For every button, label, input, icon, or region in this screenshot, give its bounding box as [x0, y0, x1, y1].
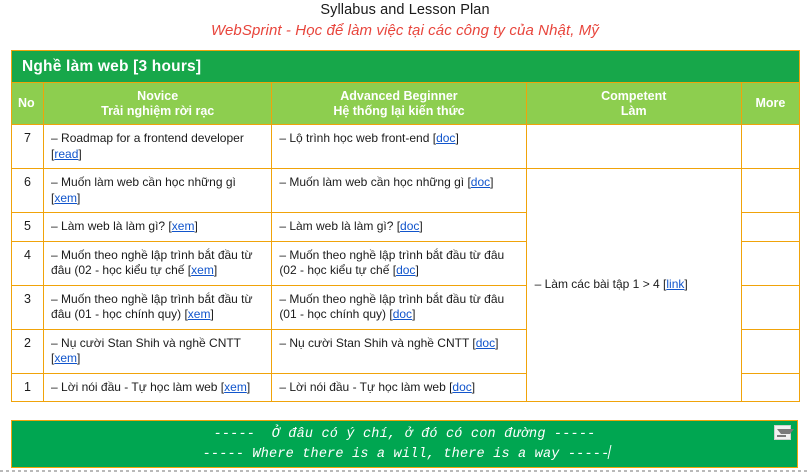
- col-header-novice: Novice Trải nghiệm rời rạc: [44, 83, 272, 125]
- more-cell: [741, 169, 799, 213]
- competent-tail: ]: [684, 277, 687, 291]
- row-number: 7: [12, 125, 44, 169]
- advanced-link[interactable]: doc: [476, 336, 495, 350]
- advanced-tail: ]: [472, 380, 475, 394]
- novice-tail: ]: [210, 307, 213, 321]
- table-row: 7 – Roadmap for a frontend developer [re…: [12, 125, 800, 169]
- advanced-tail: ]: [490, 175, 493, 189]
- competent-merged-cell: – Làm các bài tập 1 > 4 [link]: [526, 169, 741, 402]
- row-number: 6: [12, 169, 44, 213]
- novice-text: – Làm web là làm gì? [: [51, 219, 172, 233]
- novice-tail: ]: [247, 380, 250, 394]
- advanced-tail: ]: [455, 131, 458, 145]
- advanced-text: – Muốn làm web cần học những gì [: [279, 175, 470, 189]
- more-cell: [741, 285, 799, 329]
- advanced-link[interactable]: doc: [400, 219, 419, 233]
- page-bottom-edge: [0, 470, 810, 472]
- quote-line-vietnamese: ----- Ở đâu có ý chí, ở đó có con đường …: [12, 425, 797, 445]
- more-cell: [741, 373, 799, 402]
- advanced-tail: ]: [412, 307, 415, 321]
- col-header-novice-title: Novice: [44, 89, 271, 104]
- advanced-cell: – Lộ trình học web front-end [doc]: [272, 125, 526, 169]
- novice-link[interactable]: xem: [188, 307, 211, 321]
- col-header-competent-sub: Làm: [527, 104, 741, 119]
- more-cell: [741, 125, 799, 169]
- table-header-row: No Novice Trải nghiệm rời rạc Advanced B…: [12, 83, 800, 125]
- advanced-link[interactable]: doc: [396, 263, 415, 277]
- row-number: 1: [12, 373, 44, 402]
- competent-text: – Làm các bài tập 1 > 4 [: [535, 277, 667, 291]
- syllabus-table-wrap: Nghề làm web [3 hours] No Novice Trải ng…: [11, 50, 800, 402]
- banner-cell: Nghề làm web [3 hours]: [12, 51, 800, 83]
- novice-cell: – Muốn theo nghề lập trình bắt đầu từ đâ…: [44, 285, 272, 329]
- col-header-more: More: [741, 83, 799, 125]
- novice-link[interactable]: xem: [54, 191, 77, 205]
- row-number: 4: [12, 241, 44, 285]
- novice-link[interactable]: xem: [54, 351, 77, 365]
- page-header: Syllabus and Lesson Plan WebSprint - Học…: [0, 0, 810, 41]
- banner-title: Nghề làm web [3 hours]: [22, 58, 201, 75]
- more-cell: [741, 329, 799, 373]
- novice-text: – Lời nói đầu - Tự học làm web [: [51, 380, 224, 394]
- col-header-no-label: No: [18, 96, 43, 111]
- novice-cell: – Làm web là làm gì? [xem]: [44, 213, 272, 242]
- novice-cell: – Roadmap for a frontend developer [read…: [44, 125, 272, 169]
- advanced-tail: ]: [415, 263, 418, 277]
- competent-cell-row7: [526, 125, 741, 169]
- page-subtitle: WebSprint - Học để làm việc tại các công…: [0, 20, 810, 41]
- footer-quote-panel[interactable]: ----- Ở đâu có ý chí, ở đó có con đường …: [11, 420, 798, 468]
- advanced-text: – Làm web là làm gì? [: [279, 219, 400, 233]
- advanced-cell: – Muốn theo nghề lập trình bắt đầu từ đâ…: [272, 285, 526, 329]
- advanced-text: – Lời nói đầu - Tự học làm web [: [279, 380, 452, 394]
- novice-link[interactable]: xem: [224, 380, 247, 394]
- advanced-link[interactable]: doc: [452, 380, 471, 394]
- novice-text: – Muốn theo nghề lập trình bắt đầu từ đâ…: [51, 248, 253, 278]
- quote-line-english-wrap: ----- Where there is a will, there is a …: [12, 445, 797, 465]
- novice-tail: ]: [194, 219, 197, 233]
- row-number: 2: [12, 329, 44, 373]
- col-header-advanced-sub: Hệ thống lại kiến thức: [272, 104, 525, 119]
- col-header-competent-title: Competent: [527, 89, 741, 104]
- novice-link[interactable]: xem: [191, 263, 214, 277]
- col-header-advanced-title: Advanced Beginner: [272, 89, 525, 104]
- advanced-cell: – Lời nói đầu - Tự học làm web [doc]: [272, 373, 526, 402]
- advanced-link[interactable]: doc: [436, 131, 455, 145]
- page-title: Syllabus and Lesson Plan: [0, 1, 810, 20]
- novice-cell: – Nụ cười Stan Shih và nghề CNTT [xem]: [44, 329, 272, 373]
- competent-link[interactable]: link: [666, 277, 684, 291]
- row-number: 5: [12, 213, 44, 242]
- col-header-no: No: [12, 83, 44, 125]
- advanced-tail: ]: [419, 219, 422, 233]
- quote-lines: ----- Ở đâu có ý chí, ở đó có con đường …: [12, 421, 797, 465]
- table-row: 6 – Muốn làm web cần học những gì [xem] …: [12, 169, 800, 213]
- col-header-novice-sub: Trải nghiệm rời rạc: [44, 104, 271, 119]
- syllabus-table: Nghề làm web [3 hours] No Novice Trải ng…: [11, 50, 800, 402]
- advanced-text: – Lộ trình học web front-end [: [279, 131, 436, 145]
- col-header-competent: Competent Làm: [526, 83, 741, 125]
- advanced-text: – Nụ cười Stan Shih và nghề CNTT [: [279, 336, 475, 350]
- advanced-link[interactable]: doc: [471, 175, 490, 189]
- advanced-link[interactable]: doc: [393, 307, 412, 321]
- novice-link[interactable]: xem: [172, 219, 195, 233]
- more-cell: [741, 241, 799, 285]
- novice-link[interactable]: read: [54, 147, 78, 161]
- novice-tail: ]: [77, 351, 80, 365]
- novice-tail: ]: [214, 263, 217, 277]
- more-cell: [741, 213, 799, 242]
- advanced-tail: ]: [495, 336, 498, 350]
- novice-cell: – Muốn theo nghề lập trình bắt đầu từ đâ…: [44, 241, 272, 285]
- row-number: 3: [12, 285, 44, 329]
- novice-cell: – Muốn làm web cần học những gì [xem]: [44, 169, 272, 213]
- advanced-text: – Muốn theo nghề lập trình bắt đầu từ đâ…: [279, 248, 504, 278]
- table-banner-row: Nghề làm web [3 hours]: [12, 51, 800, 83]
- quote-line-english: ----- Where there is a will, there is a …: [203, 447, 610, 462]
- chevron-down-glyph: [777, 429, 794, 434]
- scroll-indicator-icon[interactable]: [774, 425, 791, 440]
- advanced-cell: – Muốn theo nghề lập trình bắt đầu từ đâ…: [272, 241, 526, 285]
- novice-tail: ]: [77, 191, 80, 205]
- novice-text: – Muốn theo nghề lập trình bắt đầu từ đâ…: [51, 292, 253, 322]
- advanced-cell: – Nụ cười Stan Shih và nghề CNTT [doc]: [272, 329, 526, 373]
- advanced-cell: – Muốn làm web cần học những gì [doc]: [272, 169, 526, 213]
- col-header-more-label: More: [742, 96, 799, 111]
- novice-tail: ]: [78, 147, 81, 161]
- novice-cell: – Lời nói đầu - Tự học làm web [xem]: [44, 373, 272, 402]
- icon-bar: [777, 435, 786, 437]
- advanced-cell: – Làm web là làm gì? [doc]: [272, 213, 526, 242]
- col-header-advanced-beginner: Advanced Beginner Hệ thống lại kiến thức: [272, 83, 526, 125]
